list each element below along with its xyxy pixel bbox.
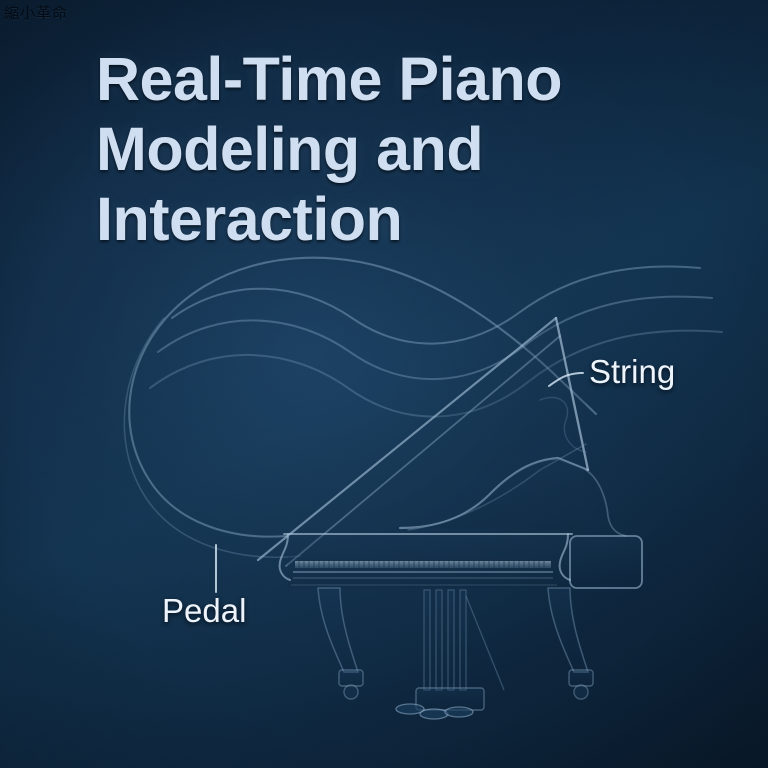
caster-icon bbox=[344, 685, 358, 699]
piano-left-leg bbox=[318, 588, 363, 699]
title-line-3: Interaction bbox=[96, 184, 656, 254]
poster-canvas: Real-Time Piano Modeling and Interaction… bbox=[0, 0, 768, 768]
annotation-label-string: String bbox=[589, 353, 675, 391]
watermark: 縮小革命 bbox=[4, 2, 68, 23]
piano-right-leg bbox=[548, 588, 593, 699]
caster-icon bbox=[574, 685, 588, 699]
annotation-label-pedal: Pedal bbox=[162, 592, 246, 630]
title-line-1: Real-Time Piano bbox=[96, 44, 656, 114]
title-line-2: Modeling and bbox=[96, 114, 656, 184]
page-title: Real-Time Piano Modeling and Interaction bbox=[96, 44, 656, 254]
pedal-lyre bbox=[416, 590, 504, 710]
